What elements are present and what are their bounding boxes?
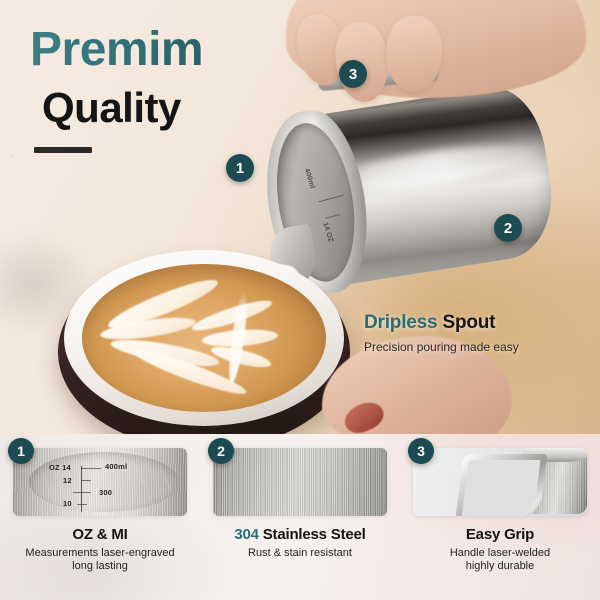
pitcher-scale-tick-minor [325, 214, 340, 219]
feature-title-3: Easy Grip [408, 526, 592, 543]
feature-title-2-accent: 304 [234, 526, 258, 543]
scale-tick [77, 504, 87, 505]
feature-title-1: OZ & MI [8, 526, 192, 543]
feature-subtitle-1-line1: Measurements laser-engraved [25, 547, 174, 559]
feature-strip: 1 OZ 14 400ml 12 300 10 [0, 434, 600, 600]
hero-badge-2-number: 2 [504, 220, 512, 237]
scale-label-oz-12: 12 [63, 476, 72, 485]
spout-callout: Dripless Spout Precision pouring made ea… [364, 312, 519, 354]
scale-axis-line [81, 466, 82, 512]
feature-card-oz-ml: 1 OZ 14 400ml 12 300 10 [0, 434, 200, 600]
feature-badge-3: 3 [408, 438, 434, 464]
scale-label-300ml: 300 [99, 488, 112, 497]
brushed-steel-texture [213, 448, 387, 516]
hero-badge-3-number: 3 [349, 66, 357, 83]
scale-tick [73, 492, 91, 493]
feature-subtitle-3-line1: Handle laser-welded [450, 547, 550, 559]
feature-subtitle-1: Measurements laser-engraved long lasting [8, 547, 192, 573]
headline-divider [34, 147, 92, 153]
latte-surface [82, 264, 326, 412]
feature-title-3-dark: Easy Grip [466, 526, 534, 543]
hero-badge-3: 3 [339, 60, 367, 88]
feature-subtitle-3: Handle laser-welded highly durable [408, 547, 592, 573]
measurement-scale-graphics: OZ 14 400ml 12 300 10 [13, 448, 187, 516]
spout-callout-title-accent: Dripless [364, 312, 437, 333]
spout-callout-title: Dripless Spout [364, 312, 519, 334]
pitcher-scale-tick-major [319, 195, 344, 203]
feature-card-list: 1 OZ 14 400ml 12 300 10 [0, 434, 600, 600]
feature-title-2-dark: Stainless Steel [263, 526, 366, 543]
feature-subtitle-2-line1: Rust & stain resistant [248, 547, 352, 559]
pitcher-scale-oz-label: 14 OZ [321, 222, 334, 244]
feature-badge-1-number: 1 [17, 443, 25, 459]
handle-closeup-background [413, 448, 587, 516]
feature-subtitle-3-line2: highly durable [466, 560, 535, 572]
feature-title-1-dark: OZ & MI [72, 526, 127, 543]
feature-thumb-measurement-scale: OZ 14 400ml 12 300 10 [13, 448, 187, 516]
feature-subtitle-2: Rust & stain resistant [208, 547, 392, 560]
feature-subtitle-1-line2: long lasting [72, 560, 128, 572]
welded-handle-loop [455, 454, 548, 516]
product-infographic: Premim Quality 400ml 14 OZ [0, 0, 600, 600]
scale-label-400ml: 400ml [105, 462, 127, 471]
scale-tick [81, 468, 101, 469]
hero-badge-2: 2 [494, 214, 522, 242]
feature-badge-2: 2 [208, 438, 234, 464]
scale-label-oz-10: 10 [63, 499, 72, 508]
pitcher-scale-ml-label: 400ml [303, 168, 316, 190]
feature-card-stainless-steel: 2 304 Stainless Steel Rust & stain resis… [200, 434, 400, 600]
feature-badge-2-number: 2 [217, 443, 225, 459]
feature-card-easy-grip: 3 Easy Grip Handle laser-welded highly d… [400, 434, 600, 600]
feature-title-2: 304 Stainless Steel [208, 526, 392, 543]
hero-badge-1-number: 1 [236, 160, 244, 177]
feature-thumb-brushed-steel [213, 448, 387, 516]
hero-badge-1: 1 [226, 154, 254, 182]
feature-thumb-handle-closeup [413, 448, 587, 516]
feature-badge-1: 1 [8, 438, 34, 464]
scale-label-oz-14: OZ 14 [49, 463, 71, 472]
spout-callout-subtitle: Precision pouring made easy [364, 340, 519, 354]
hero-scene: Premim Quality 400ml 14 OZ [0, 0, 600, 434]
scale-tick [81, 480, 91, 481]
spout-callout-title-dark: Spout [442, 312, 495, 333]
feature-badge-3-number: 3 [417, 443, 425, 459]
